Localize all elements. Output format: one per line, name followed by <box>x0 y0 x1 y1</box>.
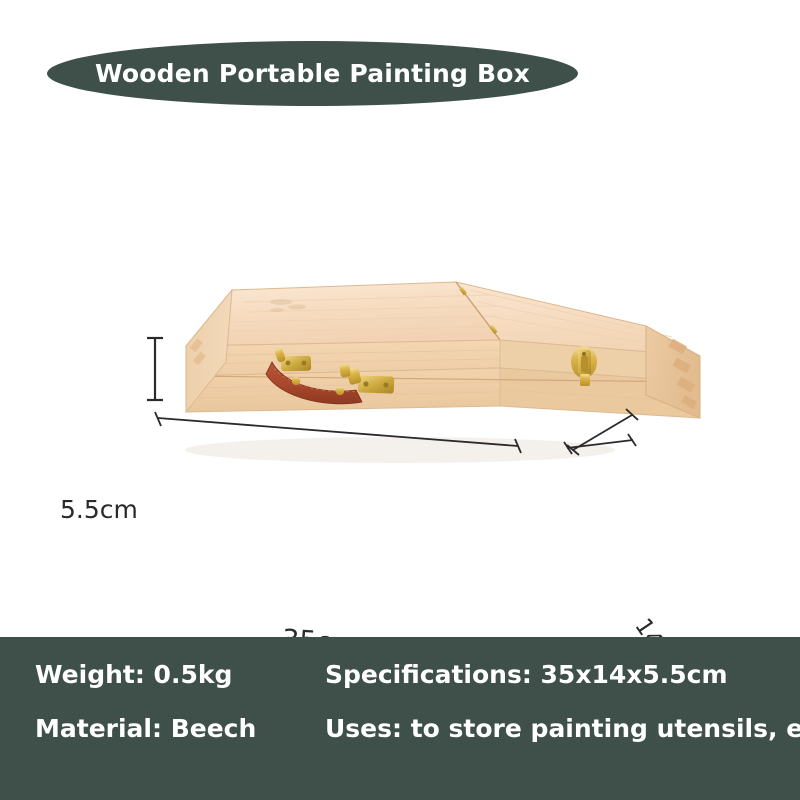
dimension-line-height <box>147 338 163 400</box>
page-title: Wooden Portable Painting Box <box>95 59 530 88</box>
infographic-page: Wooden Portable Painting Box <box>0 0 800 800</box>
spec-material: Material: Beech <box>35 715 325 743</box>
spec-uses: Uses: to store painting utensils, etc. <box>325 715 800 743</box>
product-illustration: 5.5cm 35cm 14cm <box>0 150 800 620</box>
specification-grid: Weight: 0.5kg Specifications: 35x14x5.5c… <box>35 661 785 742</box>
title-banner: Wooden Portable Painting Box <box>47 41 578 106</box>
painting-box-drawing <box>0 150 800 620</box>
lid-top-left <box>186 282 500 346</box>
specification-bar: Weight: 0.5kg Specifications: 35x14x5.5c… <box>0 637 800 800</box>
box-shadow <box>185 437 615 463</box>
spec-weight: Weight: 0.5kg <box>35 661 325 689</box>
spec-specifications: Specifications: 35x14x5.5cm <box>325 661 800 689</box>
dimension-label-height: 5.5cm <box>60 495 138 524</box>
handle-rivet-right <box>336 387 344 395</box>
handle-rivet-left <box>292 377 300 385</box>
